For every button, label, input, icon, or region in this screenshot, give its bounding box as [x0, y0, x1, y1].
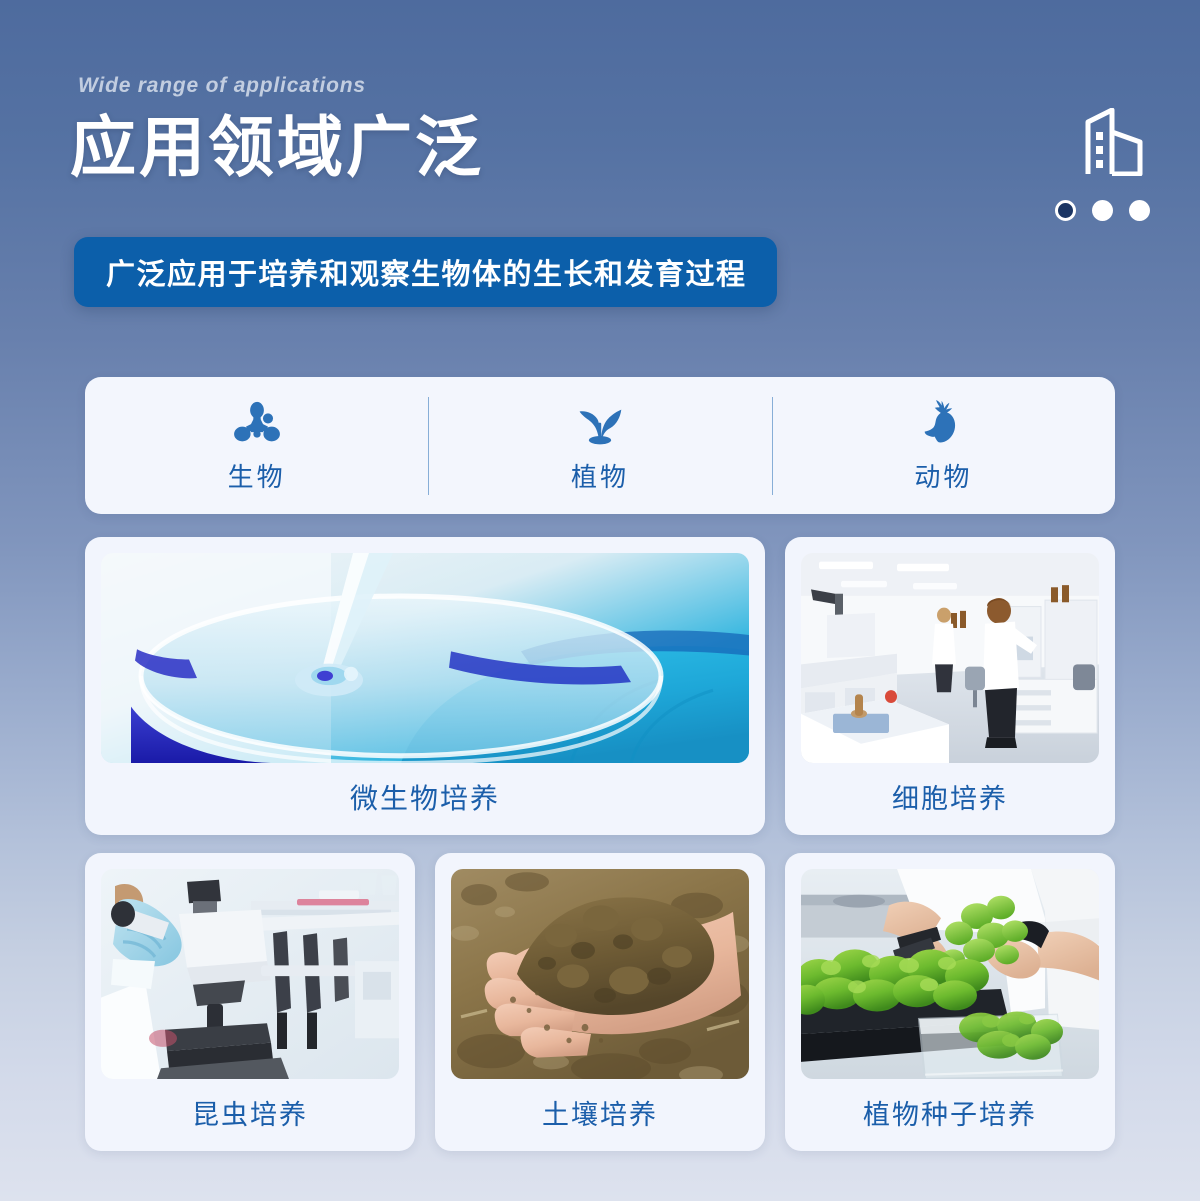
card-label: 细胞培养: [892, 763, 1008, 835]
category-label: 动物: [914, 457, 972, 494]
laboratory-interior-photo: [801, 553, 1099, 763]
carousel-dot-3[interactable]: [1129, 200, 1150, 221]
eyebrow-text: Wide range of applications: [78, 74, 366, 98]
pipette-petri-dish-photo: [101, 553, 749, 763]
sprout-icon: [575, 397, 625, 445]
application-fields-page: Wide range of applications 应用领域广泛 广泛应用于培…: [0, 0, 1200, 1201]
card-label: 土壤培养: [542, 1079, 658, 1151]
cards-row-top: 微生物培养: [85, 537, 1115, 835]
category-label: 生物: [228, 457, 286, 494]
category-label: 植物: [571, 457, 629, 494]
hand-holding-soil-photo: [451, 869, 749, 1079]
page-title: 应用领域广泛: [70, 110, 484, 186]
carousel-dot-2[interactable]: [1092, 200, 1113, 221]
card-microbe-culture[interactable]: 微生物培养: [85, 537, 765, 835]
card-label: 植物种子培养: [863, 1079, 1037, 1151]
carousel-dot-1[interactable]: [1055, 200, 1076, 221]
deer-icon: [921, 397, 965, 445]
microbe-icon: [233, 397, 281, 445]
seedling-trays-photo: [801, 869, 1099, 1079]
subtitle-banner: 广泛应用于培养和观察生物体的生长和发育过程: [74, 237, 777, 307]
microscope-photo: [101, 869, 399, 1079]
card-cell-culture[interactable]: 细胞培养: [785, 537, 1115, 835]
card-label: 昆虫培养: [192, 1079, 308, 1151]
cards-row-bottom: 昆虫培养: [85, 853, 1115, 1151]
category-item-plant[interactable]: 植物: [428, 397, 771, 494]
subtitle-banner-text: 广泛应用于培养和观察生物体的生长和发育过程: [106, 251, 747, 293]
category-bar: 生物 植物: [85, 377, 1115, 514]
card-soil-culture[interactable]: 土壤培养: [435, 853, 765, 1151]
card-label: 微生物培养: [350, 763, 500, 835]
category-item-animal[interactable]: 动物: [772, 397, 1115, 494]
category-item-biology[interactable]: 生物: [85, 397, 428, 494]
card-plant-seed-culture[interactable]: 植物种子培养: [785, 853, 1115, 1151]
carousel-pagination[interactable]: [1055, 200, 1150, 221]
card-insect-culture[interactable]: 昆虫培养: [85, 853, 415, 1151]
building-icon: [1082, 108, 1148, 176]
